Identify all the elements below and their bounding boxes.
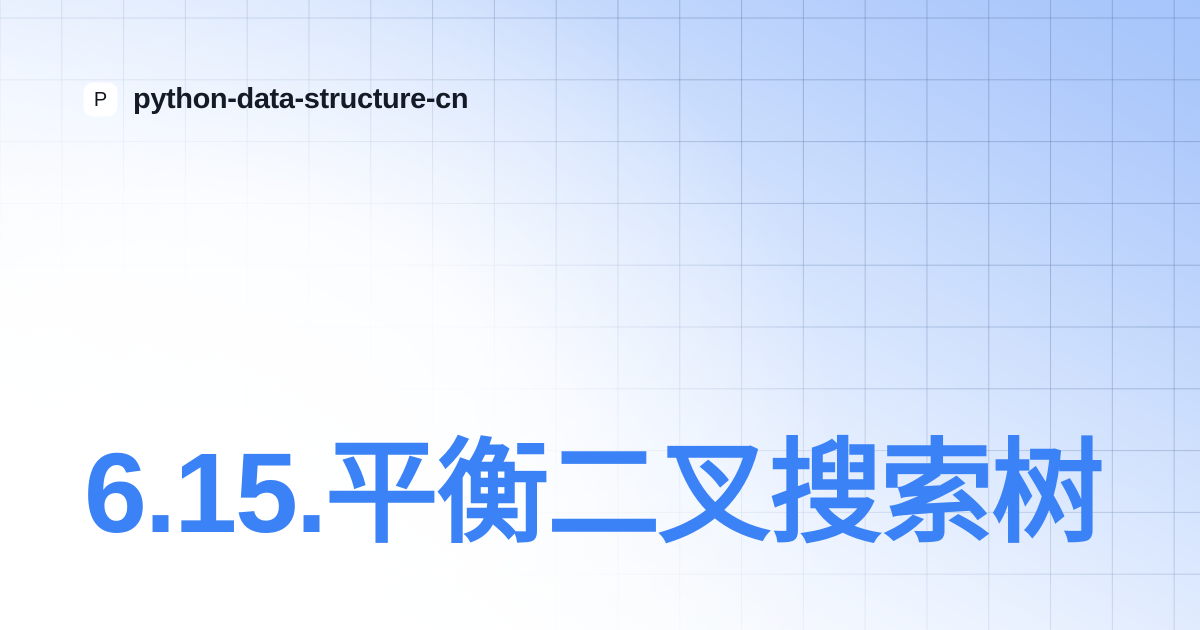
og-preview-card: P python-data-structure-cn 6.15.平衡二叉搜索树 [0,0,1200,630]
repo-header: P python-data-structure-cn [84,83,468,116]
repo-avatar-letter: P [94,90,107,110]
repo-name-label: python-data-structure-cn [133,85,468,114]
page-title: 6.15.平衡二叉搜索树 [84,432,1124,554]
repo-avatar-icon: P [84,83,117,116]
